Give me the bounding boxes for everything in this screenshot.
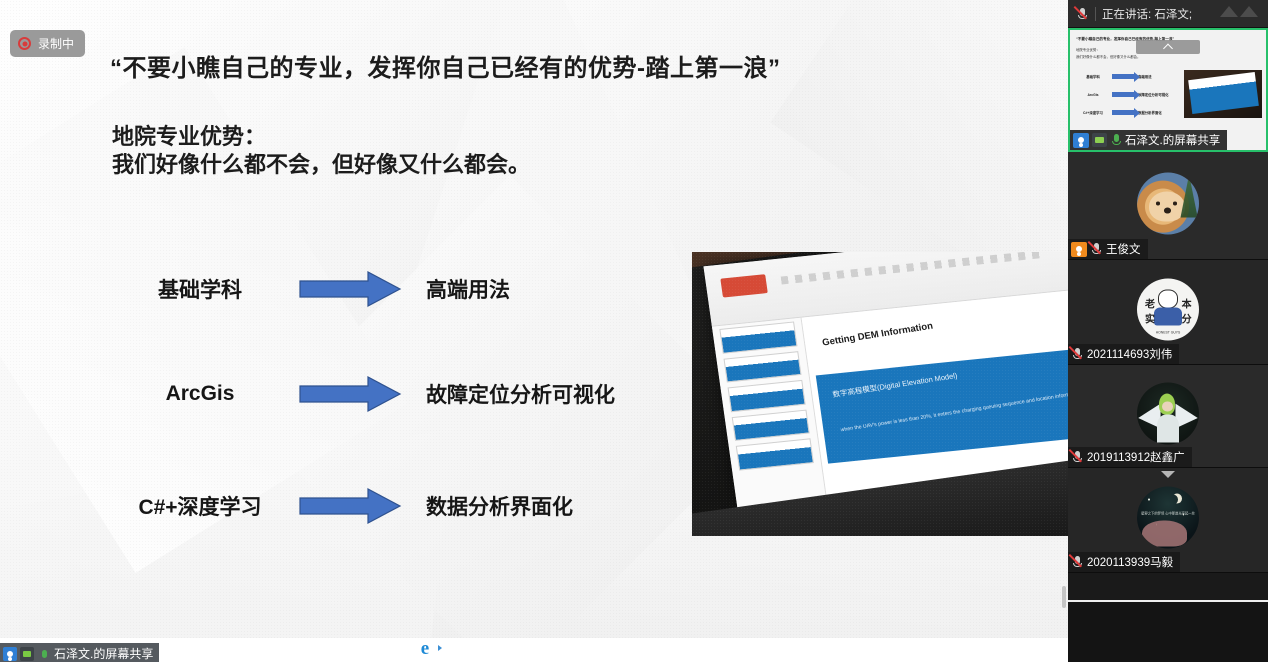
screen-share-tag-label: 石泽文.的屏幕共享 bbox=[54, 645, 153, 662]
row-1-target-label: 高端用法 bbox=[426, 274, 510, 304]
host-person-icon bbox=[1071, 242, 1087, 257]
header-divider bbox=[1095, 7, 1096, 21]
avatar-char-bl: 实 bbox=[1145, 311, 1155, 326]
right-arrow-icon bbox=[290, 487, 410, 525]
preview-row-2-target: 故障定位分析可视化 bbox=[1138, 92, 1169, 97]
slide-row-3: C#+深度学习 数据分析界面化 bbox=[110, 483, 573, 529]
microphone-muted-icon bbox=[1076, 7, 1089, 21]
preview-laptop-photo bbox=[1184, 70, 1262, 118]
avatar-caption: 星野之下的梦境 心中那道光亮起一丝 bbox=[1141, 511, 1195, 517]
sidebar-footer bbox=[1068, 602, 1268, 662]
shared-screen-slide: “不要小瞧自己的专业，发挥你自己已经有的优势-踏上第一浪” 地院专业优势： 我们… bbox=[0, 0, 1068, 638]
internet-explorer-icon[interactable]: e bbox=[414, 638, 436, 660]
chevron-collapse-icon[interactable] bbox=[1220, 6, 1258, 17]
avatar-char-br: 分 bbox=[1182, 311, 1192, 326]
self-share-tile[interactable]: “不要小瞧自己的专业，发挥你自己已经有的优势-踏上第一浪” 地院专业优势： 我们… bbox=[1068, 28, 1268, 152]
participant-name: 王俊文 bbox=[1106, 241, 1141, 257]
recording-label: 录制中 bbox=[38, 35, 74, 52]
person-icon bbox=[3, 647, 17, 661]
microphone-muted-icon bbox=[1071, 555, 1084, 569]
row-3-source-label: C#+深度学习 bbox=[110, 491, 290, 521]
row-1-source-label: 基础学科 bbox=[110, 274, 290, 304]
participant-label-bar: 2020113939马毅 bbox=[1068, 552, 1180, 572]
participant-label-bar: 王俊文 bbox=[1068, 239, 1148, 259]
slide-subtitle-line2-text: 我们好像什么都不会，但好像又什么都会。 bbox=[112, 152, 530, 177]
laptop-photo: Getting DEM Information 数字高程模型(Digital E… bbox=[692, 252, 1068, 536]
record-dot-icon bbox=[18, 37, 31, 50]
preview-row-3-source: C#+深度学习 bbox=[1078, 110, 1108, 115]
participant-tile[interactable]: 老 本 实 分 HONEST GUYS 2021114693刘伟 bbox=[1068, 260, 1268, 365]
participant-label-bar: 2021114693刘伟 bbox=[1068, 344, 1179, 364]
microphone-icon bbox=[37, 647, 51, 661]
preview-floating-toolbar bbox=[1136, 40, 1200, 54]
preview-row-3-target: 数据分析界面化 bbox=[1138, 110, 1162, 115]
taskbar-caret-icon bbox=[438, 645, 442, 651]
meeting-participants-sidebar: 正在讲话: 石泽文; “不要小瞧自己的专业，发挥你自己已经有的优势-踏上第一浪”… bbox=[1068, 0, 1268, 662]
participant-tile[interactable]: 星野之下的梦境 心中那道光亮起一丝 2020113939马毅 bbox=[1068, 468, 1268, 573]
participant-label-bar: 2019113912赵鑫广 bbox=[1068, 447, 1192, 467]
microphone-muted-icon bbox=[1071, 347, 1084, 361]
microphone-muted-icon bbox=[1090, 242, 1103, 256]
microphone-unmuted-icon bbox=[1110, 133, 1122, 147]
microphone-muted-icon bbox=[1071, 450, 1084, 464]
preview-row-2-source: ArcGis bbox=[1078, 93, 1108, 97]
night-avatar: 星野之下的梦境 心中那道光亮起一丝 bbox=[1137, 487, 1199, 549]
sidebar-header: 正在讲话: 石泽文; bbox=[1068, 0, 1268, 28]
slide-row-2: ArcGis 故障定位分析可视化 bbox=[110, 371, 615, 417]
participant-name: 2020113939马毅 bbox=[1087, 554, 1173, 570]
avatar-char-tr: 本 bbox=[1182, 295, 1192, 310]
preview-row-1-target: 高端用法 bbox=[1138, 74, 1152, 79]
screen-share-icon bbox=[1092, 133, 1107, 147]
participant-name: 2019113912赵鑫广 bbox=[1087, 449, 1185, 465]
participant-name: 2021114693刘伟 bbox=[1087, 346, 1172, 362]
active-speaker-label: 正在讲话: 石泽文; bbox=[1102, 6, 1192, 22]
preview-subtitle: 地院专业优势： bbox=[1076, 48, 1100, 54]
slide-title: “不要小瞧自己的专业，发挥你自己已经有的优势-踏上第一浪” bbox=[110, 48, 781, 83]
self-person-icon bbox=[1073, 133, 1089, 148]
right-arrow-icon bbox=[290, 375, 410, 413]
row-3-target-label: 数据分析界面化 bbox=[426, 491, 573, 521]
preview-row-2: ArcGis 故障定位分析可视化 bbox=[1078, 92, 1169, 97]
preview-subtitle-2: 我们好像什么都不会，但好像又什么都会。 bbox=[1076, 55, 1140, 61]
right-arrow-icon bbox=[1112, 92, 1134, 97]
row-2-target-label: 故障定位分析可视化 bbox=[426, 379, 615, 409]
slide-subtitle-line2: 我们好像什么都不会，但好像又什么都会。 bbox=[112, 147, 530, 179]
doge-avatar bbox=[1137, 172, 1199, 234]
participant-tile[interactable]: 2019113912赵鑫广 bbox=[1068, 365, 1268, 468]
screen: “不要小瞧自己的专业，发挥你自己已经有的优势-踏上第一浪” 地院专业优势： 我们… bbox=[0, 0, 1268, 662]
chevron-down-icon[interactable] bbox=[1161, 471, 1175, 478]
participant-tile[interactable]: 王俊文 bbox=[1068, 152, 1268, 260]
photo-grain bbox=[692, 252, 1068, 536]
self-share-label-bar: 石泽文.的屏幕共享 bbox=[1070, 130, 1227, 150]
recording-badge[interactable]: 录制中 bbox=[10, 30, 85, 57]
anime-avatar bbox=[1137, 383, 1199, 445]
cartoon-avatar: 老 本 实 分 HONEST GUYS bbox=[1137, 279, 1199, 341]
preview-row-1: 基础学科 高端用法 bbox=[1078, 74, 1152, 79]
right-arrow-icon bbox=[290, 270, 410, 308]
right-arrow-icon bbox=[1112, 74, 1134, 79]
preview-row-3: C#+深度学习 数据分析界面化 bbox=[1078, 110, 1162, 115]
scrollbar-thumb[interactable] bbox=[1062, 586, 1066, 608]
slide-row-1: 基础学科 高端用法 bbox=[110, 266, 510, 312]
self-share-label: 石泽文.的屏幕共享 bbox=[1125, 132, 1220, 148]
avatar-char-tl: 老 bbox=[1145, 295, 1155, 310]
avatar-tagline: HONEST GUYS bbox=[1156, 330, 1181, 334]
slide-subtitle-line1-text: 地院专业优势： bbox=[112, 124, 266, 149]
screen-share-tag: 石泽文.的屏幕共享 bbox=[0, 643, 159, 662]
row-2-source-label: ArcGis bbox=[110, 382, 290, 406]
screen-share-icon bbox=[20, 647, 34, 661]
right-arrow-icon bbox=[1112, 110, 1134, 115]
preview-row-1-source: 基础学科 bbox=[1078, 74, 1108, 79]
